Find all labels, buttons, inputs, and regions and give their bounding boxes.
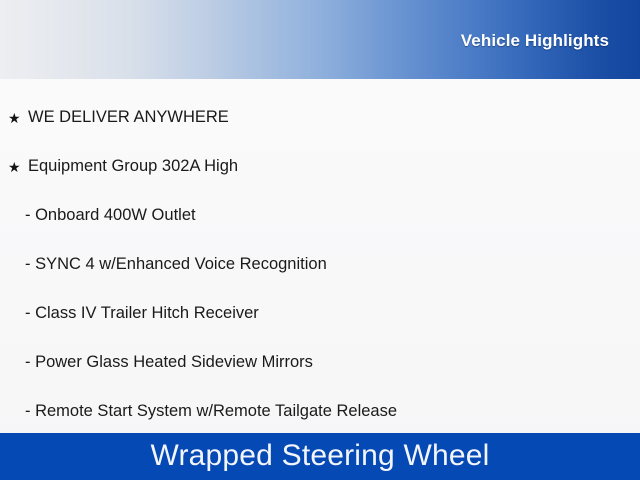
vehicle-highlights-slide: Vehicle Highlights ★ WE DELIVER ANYWHERE… <box>0 0 640 480</box>
list-item-label: - Onboard 400W Outlet <box>25 206 196 226</box>
star-bullet-icon: ★ <box>8 160 28 174</box>
list-item: ★ WE DELIVER ANYWHERE <box>0 93 640 142</box>
list-item: - Remote Start System w/Remote Tailgate … <box>0 387 640 436</box>
list-item-label: - SYNC 4 w/Enhanced Voice Recognition <box>25 255 327 275</box>
header-banner: Vehicle Highlights <box>0 0 640 79</box>
list-item: - Class IV Trailer Hitch Receiver <box>0 289 640 338</box>
list-item: - Power Glass Heated Sideview Mirrors <box>0 338 640 387</box>
list-item: - SYNC 4 w/Enhanced Voice Recognition <box>0 240 640 289</box>
star-bullet-icon: ★ <box>8 111 28 125</box>
list-item: ★ Equipment Group 302A High <box>0 142 640 191</box>
list-item-label: WE DELIVER ANYWHERE <box>28 108 229 128</box>
footer-title: Wrapped Steering Wheel <box>150 441 489 471</box>
list-item-label: - Power Glass Heated Sideview Mirrors <box>25 353 313 373</box>
list-item-label: - Remote Start System w/Remote Tailgate … <box>25 402 397 422</box>
list-item-label: - Class IV Trailer Hitch Receiver <box>25 304 259 324</box>
list-item-label: Equipment Group 302A High <box>28 157 238 177</box>
footer-banner: Wrapped Steering Wheel <box>0 433 640 480</box>
highlights-list: ★ WE DELIVER ANYWHERE ★ Equipment Group … <box>0 79 640 433</box>
list-item: - Onboard 400W Outlet <box>0 191 640 240</box>
page-title: Vehicle Highlights <box>461 31 640 51</box>
